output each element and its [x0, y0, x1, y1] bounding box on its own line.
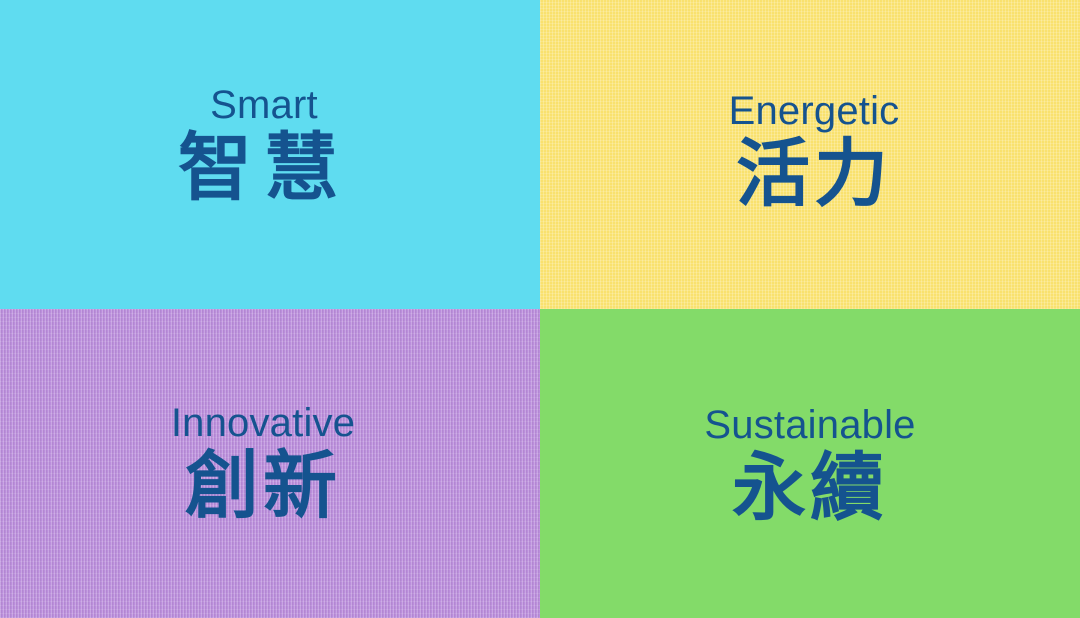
value-text-block-innovative: Innovative 創新 [171, 403, 355, 523]
value-label-en-energetic: Energetic [729, 91, 900, 131]
value-label-cjk-innovative: 創新 [171, 449, 355, 523]
brand-values-canvas: Smart 智慧 Energetic 活力 Innovative 創新 Sust… [0, 0, 1080, 618]
value-cell-smart[interactable]: Smart 智慧 [0, 0, 540, 309]
value-label-cjk-sustainable: 永續 [704, 451, 915, 525]
value-cell-sustainable[interactable]: Sustainable 永續 [540, 309, 1080, 618]
value-grid: Smart 智慧 Energetic 活力 Innovative 創新 Sust… [0, 0, 1080, 618]
value-label-cjk-energetic: 活力 [729, 137, 900, 211]
value-cell-energetic[interactable]: Energetic 活力 [540, 0, 1080, 309]
value-text-block-smart: Smart 智慧 [178, 85, 350, 205]
value-label-en-smart: Smart [178, 85, 350, 125]
value-label-en-sustainable: Sustainable [704, 405, 915, 445]
value-text-block-sustainable: Sustainable 永續 [704, 405, 915, 525]
value-text-block-energetic: Energetic 活力 [729, 91, 900, 211]
value-label-en-innovative: Innovative [171, 403, 355, 443]
value-cell-innovative[interactable]: Innovative 創新 [0, 309, 540, 618]
value-label-cjk-smart: 智慧 [178, 131, 350, 205]
